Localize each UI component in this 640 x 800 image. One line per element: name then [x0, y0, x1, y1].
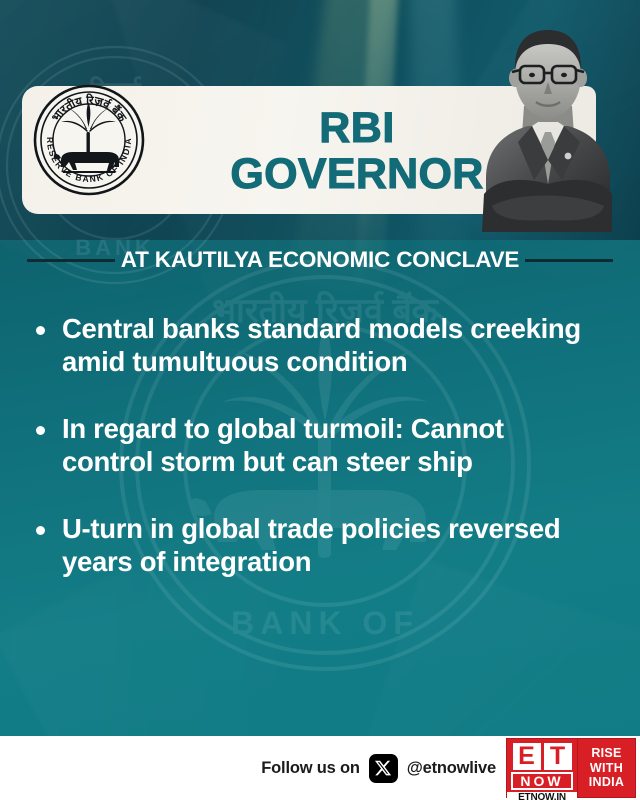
news-card: रिज़र्व BANK: [0, 0, 640, 800]
bullet-dot-icon: [36, 426, 45, 435]
tagline-line-2: WITH: [590, 761, 623, 776]
governor-portrait-image: [462, 8, 634, 232]
logo-domain: ETNOW.IN: [507, 792, 577, 800]
x-twitter-icon[interactable]: [369, 754, 398, 783]
follow-us-label: Follow us on: [261, 759, 359, 778]
list-item: Central banks standard models creeking a…: [36, 312, 616, 378]
list-item: U-turn in global trade policies reversed…: [36, 512, 616, 578]
footer-bar: Follow us on @etnowlive E T NOW ETNOW.IN: [0, 736, 640, 800]
etnow-logo-main: E T NOW ETNOW.IN: [506, 738, 578, 798]
logo-letter-e: E: [513, 743, 541, 770]
footer-content: Follow us on @etnowlive E T NOW ETNOW.IN: [261, 736, 640, 800]
social-handle[interactable]: @etnowlive: [407, 759, 496, 778]
bullet-text: In regard to global turmoil: Cannot cont…: [62, 412, 582, 478]
etnow-tagline: RISE WITH INDIA: [578, 738, 636, 798]
subtitle-rule-left: [27, 259, 115, 262]
list-item: In regard to global turmoil: Cannot cont…: [36, 412, 616, 478]
bullet-text: U-turn in global trade policies reversed…: [62, 512, 582, 578]
title-governor: GOVERNOR: [230, 153, 483, 195]
tagline-line-3: INDIA: [589, 775, 625, 790]
bullet-dot-icon: [36, 526, 45, 535]
etnow-letters: E T: [513, 743, 572, 770]
title-rbi: RBI: [319, 107, 395, 149]
header-title-group: RBI GOVERNOR: [222, 90, 492, 212]
subtitle-rule-right: [525, 259, 613, 262]
subtitle-text: AT KAUTILYA ECONOMIC CONCLAVE: [121, 247, 519, 273]
subtitle-row: AT KAUTILYA ECONOMIC CONCLAVE: [0, 240, 640, 280]
bullet-text: Central banks standard models creeking a…: [62, 312, 582, 378]
etnow-logo[interactable]: E T NOW ETNOW.IN RISE WITH INDIA: [506, 738, 636, 798]
tagline-line-1: RISE: [591, 746, 621, 761]
logo-letter-t: T: [544, 743, 572, 770]
rbi-emblem-icon: भारतीय रिज़र्व बैंक RESERVE BANK OF INDI…: [33, 84, 145, 196]
logo-now: NOW: [511, 772, 573, 790]
bullet-list: Central banks standard models creeking a…: [36, 312, 616, 612]
bullet-dot-icon: [36, 326, 45, 335]
